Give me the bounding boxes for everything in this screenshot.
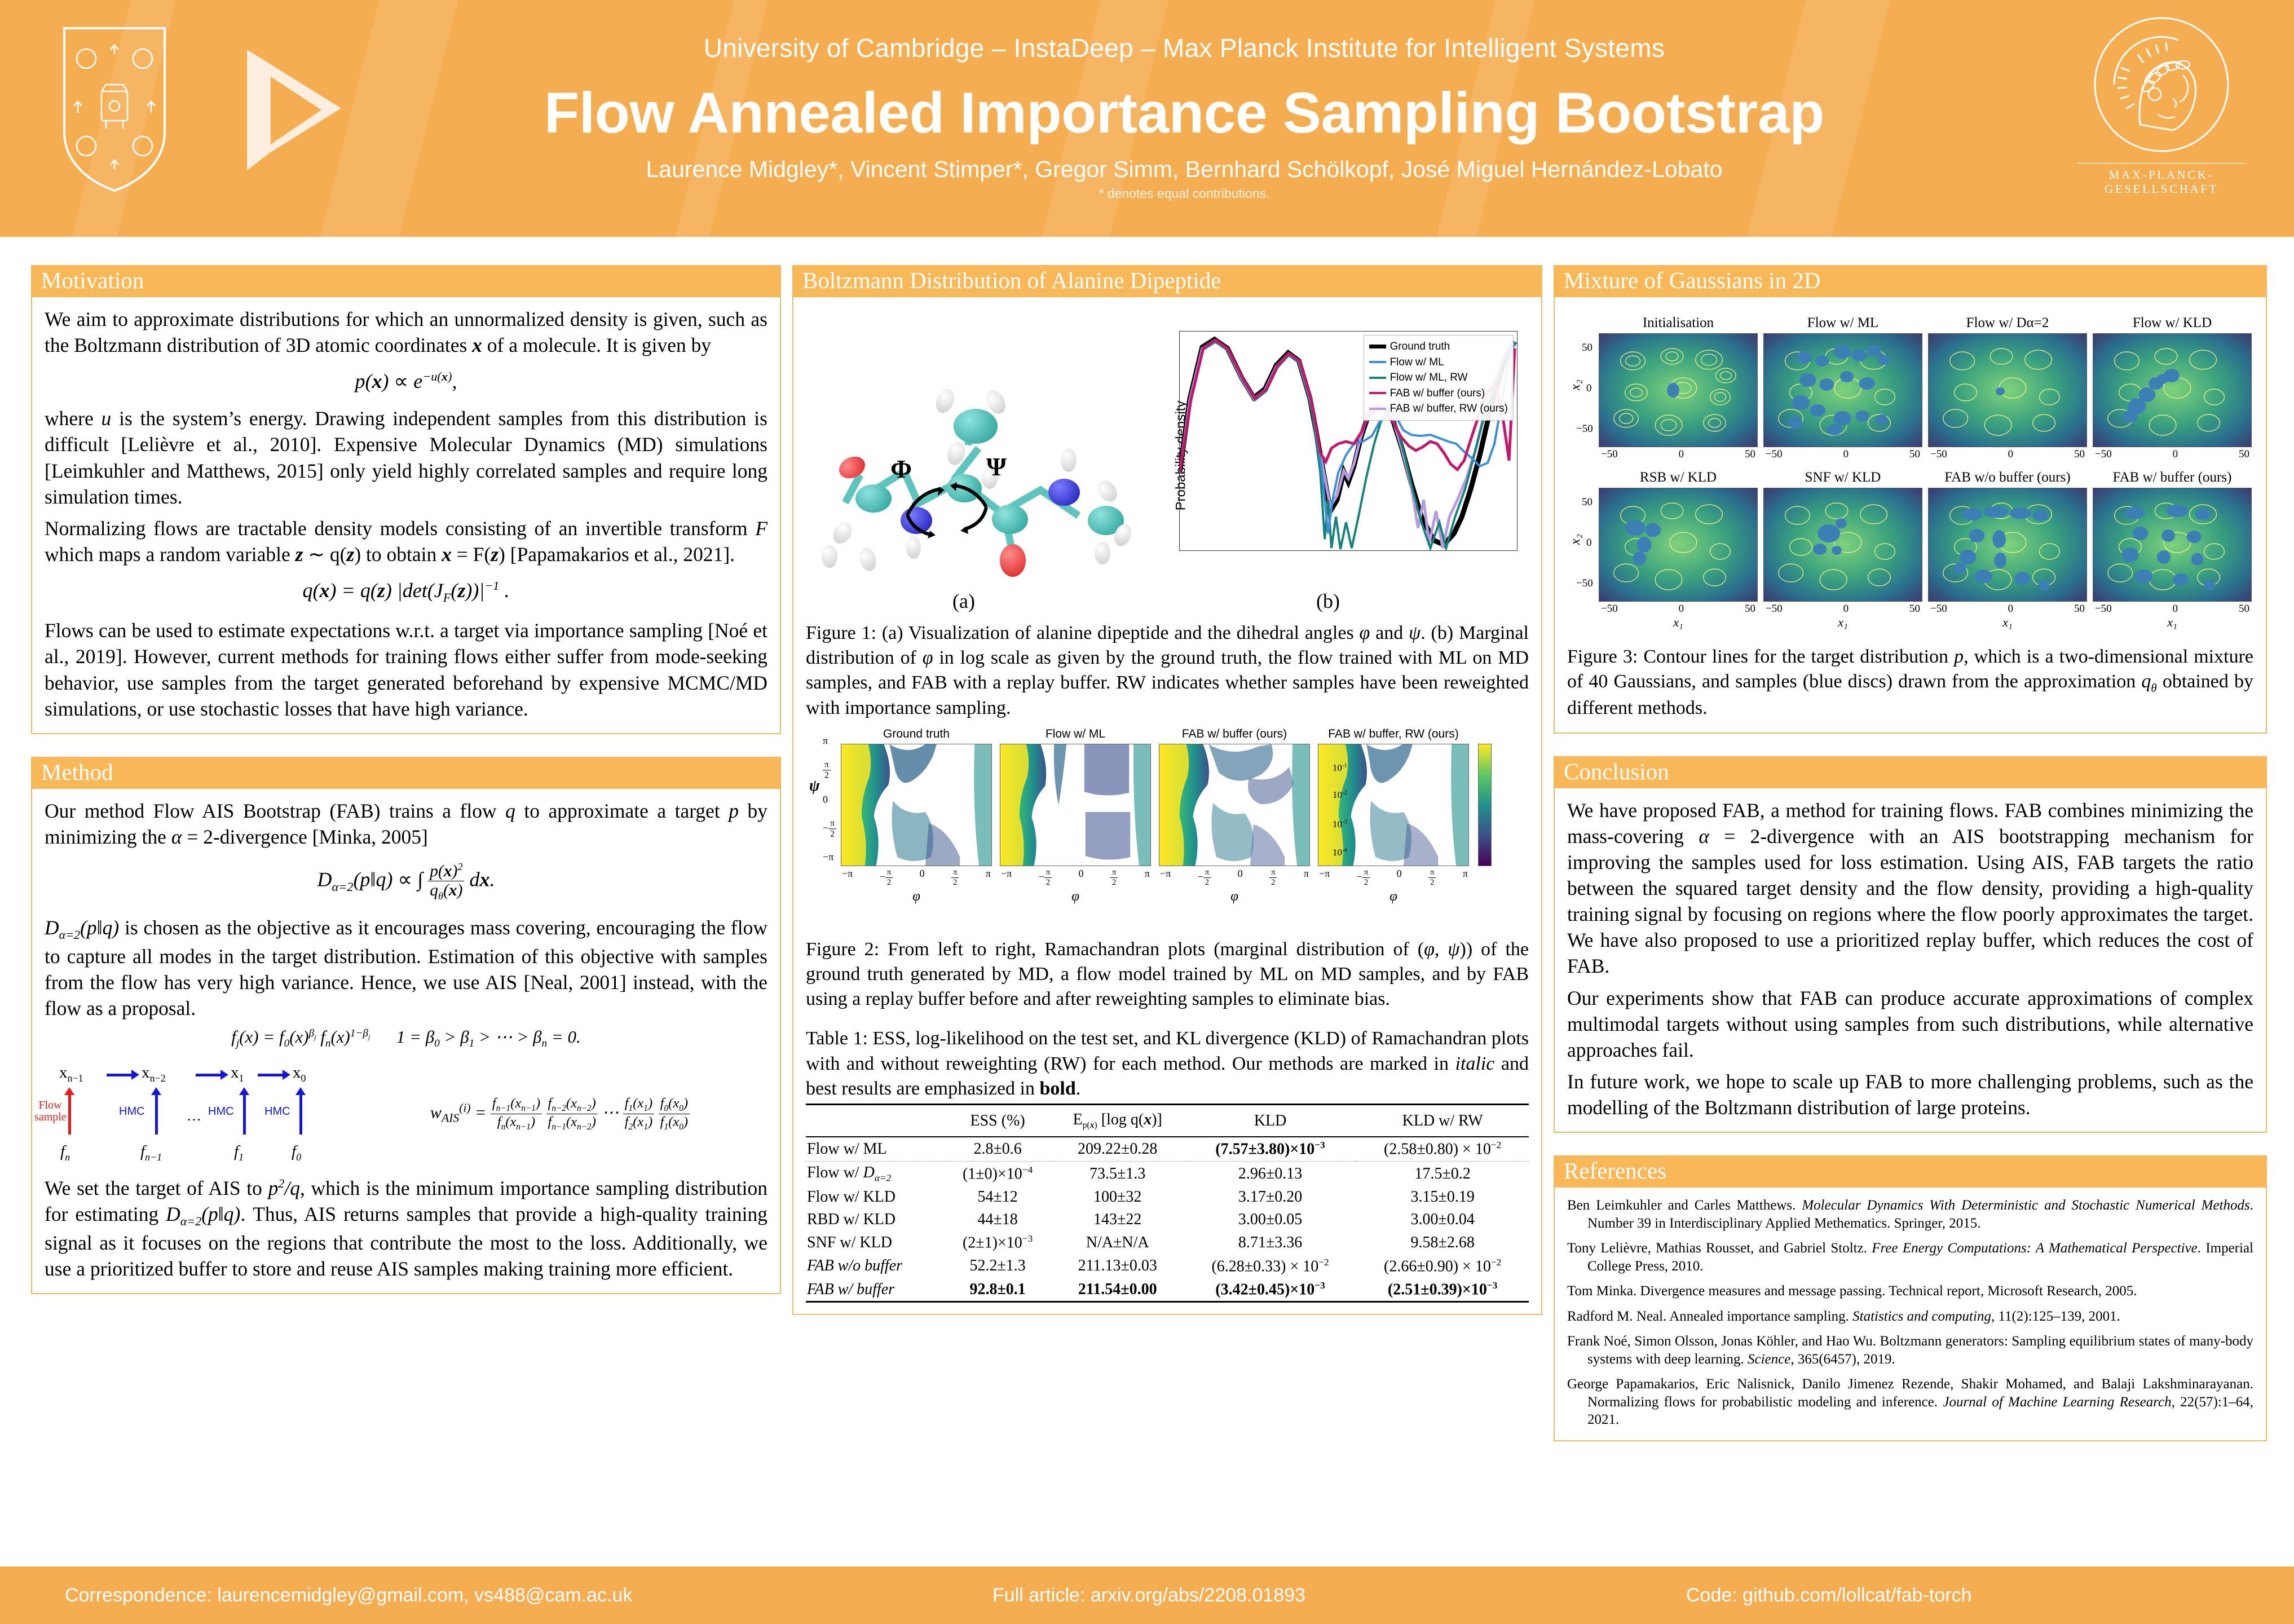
mog-panel-fab-wo-buffer: FAB w/o buffer (ours) (1928, 470, 2087, 630)
col-kld: KLD (1184, 1104, 1357, 1137)
col-loglik: Ep(x) [log q(x)] (1051, 1104, 1184, 1137)
hmc-label-3: HMC (264, 1105, 290, 1118)
reference-item: Radford M. Neal. Annealed importance sam… (1567, 1308, 2253, 1326)
col-kld-rw: KLD w/ RW (1356, 1104, 1529, 1137)
row-method: FAB w/o buffer (806, 1255, 945, 1278)
method-p3: We set the target of AIS to p2/q, which … (45, 1175, 767, 1282)
hydrogen-atom (857, 546, 879, 573)
mog-panel-row-2: RSB w/ KLD (1567, 470, 2253, 630)
rama-panel-fab-buffer-rw: FAB w/ buffer, RW (ours) (1318, 727, 1469, 888)
flow-sample-label: Flowsample (34, 1100, 66, 1123)
column-middle: Boltzmann Distribution of Alanine Dipept… (792, 265, 1542, 1338)
flow-sample-arrow (68, 1094, 71, 1135)
carbon-atom (954, 409, 998, 444)
reference-item: Tom Minka. Divergence measures and messa… (1567, 1282, 2253, 1300)
table-row: Flow w/ Dα=2 (1±0)×10−4 73.5±1.3 2.96±0.… (806, 1161, 1529, 1186)
legend-label-ground-truth: Ground truth (1390, 339, 1450, 355)
mog-ytick-5: −50 (1576, 577, 1593, 590)
hydrogen-atom (933, 386, 958, 416)
mog-panel-fab-buffer: FAB w/ buffer (ours) (2093, 470, 2252, 630)
rama-panel-flow-ml: Flow w/ ML (1000, 727, 1151, 888)
figure-3: x₂ 50 0 −50 Initialisation (1567, 306, 2253, 630)
hydrogen-atom (1094, 477, 1121, 505)
row-method: Flow w/ Dα=2 (806, 1161, 945, 1186)
figure-3-caption: Figure 3: Contour lines for the target d… (1567, 645, 2253, 721)
cbar-tick-0: 10-1 (1333, 762, 1521, 774)
mog-title-6: FAB w/o buffer (ours) (1928, 470, 2087, 486)
conclusion-block: Conclusion We have proposed FAB, a metho… (1554, 756, 2267, 1133)
motivation-equation-1: p(x) ∝ e−u(x), (45, 369, 767, 393)
method-block: Method Our method Flow AIS Bootstrap (FA… (31, 757, 781, 1294)
figure-1: Φ Ψ (a) Probability density (806, 306, 1529, 613)
motivation-p2: where u is the system’s energy. Drawing … (45, 405, 767, 510)
nitrogen-atom (1048, 479, 1080, 506)
table-row: FAB w/o buffer 52.2±1.3 211.13±0.03 (6.2… (806, 1255, 1529, 1278)
rama-ytick-1: π2 (823, 760, 831, 780)
method-title: Method (32, 757, 780, 789)
footer-article-link[interactable]: Full article: arxiv.org/abs/2208.01893 (992, 1585, 1305, 1607)
mog-block: Mixture of Gaussians in 2D x₂ 50 0 −50 I… (1554, 265, 2267, 734)
mog-title: Mixture of Gaussians in 2D (1555, 265, 2266, 297)
mog-panel-snf-kld: SNF w/ KLD (1763, 470, 1922, 630)
motivation-title: Motivation (32, 265, 780, 297)
mog-xlabel-6: x₁ (1928, 615, 2087, 630)
dihedral-rotation-arrows (885, 475, 1043, 549)
rama-ytick-2: 0 (823, 793, 828, 805)
col-ess: ESS (%) (945, 1104, 1051, 1137)
reference-item: Ben Leimkuhler and Carles Matthews. Mole… (1567, 1197, 2253, 1232)
legend-label-fab-buffer: FAB w/ buffer (ours) (1390, 386, 1485, 401)
conclusion-p3: In future work, we hope to scale up FAB … (1567, 1069, 2253, 1120)
mog-ytick-1: 0 (1586, 382, 1592, 395)
mog-title-5: SNF w/ KLD (1763, 470, 1922, 486)
mog-ylabel-row1: x₂ (1568, 379, 1583, 390)
rama-xlabel-3: φ (1318, 889, 1469, 904)
method-equation-1: Dα=2(p‖q) ∝ ∫ p(x)2qθ(x) dx. (45, 861, 767, 902)
motivation-p4: Flows can be used to estimate expectatio… (45, 617, 767, 722)
mog-panel-rsb-kld: RSB w/ KLD (1599, 470, 1758, 630)
rama-title-1: Flow w/ ML (1000, 727, 1151, 741)
method-p1: Our method Flow AIS Bootstrap (FAB) trai… (45, 798, 767, 850)
mog-ytick-0: 50 (1582, 342, 1592, 354)
rama-xlabel-2: φ (1159, 889, 1310, 904)
ellipsis-label: … (187, 1107, 201, 1124)
reference-item: Tony Lelièvre, Mathias Rousset, and Gabr… (1567, 1239, 2253, 1275)
figure-2: ψ π π2 0 −π2 −π Ground truth (806, 721, 1529, 913)
column-right: Mixture of Gaussians in 2D x₂ 50 0 −50 I… (1554, 265, 2267, 1464)
hmc-label-2: HMC (208, 1105, 234, 1118)
mog-ytick-4: 0 (1586, 537, 1592, 549)
ais-weight-equation: wAIS(i) = fn−1(xn−1)fn(xn−1) fn−2(xn−2)f… (352, 1096, 767, 1132)
mog-title-3: Flow w/ KLD (2093, 315, 2252, 331)
conclusion-p2: Our experiments show that FAB can produc… (1567, 985, 2253, 1063)
table-row: Flow w/ KLD 54±12 100±32 3.17±0.20 3.15±… (806, 1186, 1529, 1208)
method-p2: Dα=2(p‖q) is chosen as the objective as … (45, 915, 767, 1021)
phi-angle-label: Φ (890, 454, 912, 484)
mog-xlabel-7: x₁ (2093, 615, 2252, 630)
references-title: References (1555, 1155, 2266, 1188)
mog-title-7: FAB w/ buffer (ours) (2093, 470, 2252, 486)
rama-xlabel-0: φ (841, 889, 992, 904)
table-row: Flow w/ ML 2.8±0.6 209.22±0.28 (7.57±3.8… (806, 1137, 1529, 1161)
rama-xlabel-1: φ (1000, 889, 1151, 904)
column-left: Motivation We aim to approximate distrib… (31, 265, 781, 1317)
motivation-equation-2: q(x) = q(z) |det(JF(z))|−1 . (45, 579, 767, 605)
row-method: Flow w/ ML (806, 1137, 945, 1161)
table-row: RBD w/ KLD 44±18 143±22 3.00±0.05 3.00±0… (806, 1208, 1529, 1231)
poster-title: Flow Annealed Importance Sampling Bootst… (508, 80, 1861, 146)
rama-title-2: FAB w/ buffer (ours) (1159, 727, 1310, 741)
legend-label-flow-ml-rw: Flow w/ ML, RW (1390, 370, 1468, 386)
cambridge-shield-logo (61, 25, 168, 194)
author-list: Laurence Midgley*, Vincent Stimper*, Gre… (508, 156, 1861, 183)
legend-label-fab-buffer-rw: FAB w/ buffer, RW (ours) (1390, 401, 1508, 417)
hydrogen-atom (1061, 448, 1077, 472)
row-method: SNF w/ KLD (806, 1231, 945, 1254)
row-method: RBD w/ KLD (806, 1208, 945, 1231)
poster-root: University of Cambridge – InstaDeep – Ma… (0, 0, 2294, 1624)
hydrogen-atom (830, 519, 855, 547)
mpg-wordmark: MAX-PLANCK-GESELLSCHAFT (2077, 163, 2246, 196)
hydrogen-atom (1095, 542, 1110, 564)
affiliation-line: University of Cambridge – InstaDeep – Ma… (508, 33, 1861, 63)
row-method: FAB w/ buffer (806, 1278, 945, 1302)
mog-ylabel-row2: x₂ (1568, 534, 1583, 545)
mog-xlabel-5: x₁ (1763, 615, 1922, 630)
row-method: Flow w/ KLD (806, 1186, 945, 1208)
instadeep-logo (237, 45, 350, 175)
rama-panel-ground-truth: Ground truth (841, 727, 992, 888)
references-block: References Ben Leimkuhler and Carles Mat… (1554, 1155, 2267, 1441)
header-text-group: University of Cambridge – InstaDeep – Ma… (508, 23, 1861, 201)
mog-panel-flow-ml: Flow w/ ML (1763, 315, 1922, 461)
boltzmann-title: Boltzmann Distribution of Alanine Dipept… (793, 265, 1541, 297)
figure-1-caption: Figure 1: (a) Visualization of alanine d… (806, 621, 1529, 721)
footer-code-link[interactable]: Code: github.com/lollcat/fab-torch (1686, 1585, 1971, 1607)
legend-label-flow-ml: Flow w/ ML (1390, 355, 1444, 370)
cbar-tick-3: 10-4 (1333, 847, 1521, 858)
density-legend: Ground truth Flow w/ ML Flow w/ ML, RW F… (1364, 335, 1514, 421)
psi-angle-label: Ψ (986, 452, 1007, 482)
reference-item: Frank Noé, Simon Olsson, Jonas Köhler, a… (1567, 1332, 2253, 1368)
mog-title-2: Flow w/ Dα=2 (1928, 315, 2087, 331)
hmc-label-1: HMC (119, 1105, 145, 1118)
table-row: FAB w/ buffer 92.8±0.1 211.54±0.00 (3.42… (806, 1278, 1529, 1302)
rama-ylabel: ψ (809, 777, 820, 795)
ais-chain-diagram: xn−1 xn−2 x1 x0 Flowsample HMC … H (45, 1060, 338, 1167)
mog-panel-initialisation: Initialisation (1599, 315, 1758, 461)
conclusion-p1: We have proposed FAB, a method for train… (1567, 797, 2253, 979)
table-row: SNF w/ KLD (2±1)×10−3 N/A±N/A 8.71±3.36 … (806, 1231, 1529, 1254)
method-equation-2: fj(x) = f0(x)βj fn(x)1−βj 1 = β0 > β1 > … (45, 1027, 767, 1050)
alanine-dipeptide-molecule: Φ Ψ (806, 323, 1122, 588)
rama-title-0: Ground truth (841, 727, 992, 741)
motivation-block: Motivation We aim to approximate distrib… (31, 265, 781, 734)
boltzmann-block: Boltzmann Distribution of Alanine Dipept… (792, 265, 1542, 1315)
motivation-p1: We aim to approximate distributions for … (45, 306, 767, 358)
max-planck-logo: MAX-PLANCK-GESELLSCHAFT (2068, 14, 2255, 200)
mog-ytick-3: 50 (1582, 496, 1592, 509)
ramachandran-panel-row: Ground truth (806, 727, 1529, 888)
table-header-row: ESS (%) Ep(x) [log q(x)] KLD KLD w/ RW (806, 1104, 1529, 1137)
rama-title-3: FAB w/ buffer, RW (ours) (1318, 727, 1469, 741)
rama-ytick-3: −π2 (823, 818, 836, 839)
hydrogen-atom (822, 545, 837, 568)
oxygen-atom (1000, 544, 1026, 577)
poster-footer: Correspondence: laurencemidgley@gmail.co… (0, 1566, 2294, 1624)
density-axes: Ground truth Flow w/ ML Flow w/ ML, RW F… (1179, 331, 1517, 551)
conclusion-title: Conclusion (1555, 756, 2266, 788)
poster-header: University of Cambridge – InstaDeep – Ma… (0, 0, 2294, 237)
mog-ytick-2: −50 (1576, 423, 1593, 435)
mog-panel-flow-dalpha2: Flow w/ Dα=2 (1928, 315, 2087, 461)
motivation-p3: Normalizing flows are tractable density … (45, 515, 767, 567)
reference-item: George Papamakarios, Eric Nalisnick, Dan… (1567, 1375, 2253, 1429)
mog-title-4: RSB w/ KLD (1599, 470, 1758, 486)
rama-panel-fab-buffer: FAB w/ buffer (ours) (1159, 727, 1310, 888)
mog-panel-row-1: Initialisation (1567, 315, 2253, 461)
results-table: ESS (%) Ep(x) [log q(x)] KLD KLD w/ RW F… (806, 1104, 1529, 1303)
subfigure-a-label: (a) (806, 589, 1122, 613)
rama-ytick-0: π (823, 735, 828, 747)
mog-panel-flow-kld: Flow w/ KLD (2093, 315, 2252, 461)
equal-contrib-note: * denotes equal contributions. (508, 186, 1861, 201)
figure-2-caption: Figure 2: From left to right, Ramachandr… (806, 937, 1529, 1012)
table-1-caption: Table 1: ESS, log-likelihood on the test… (806, 1026, 1529, 1101)
oxygen-atom (836, 453, 869, 483)
subfigure-b-label: (b) (1127, 589, 1529, 613)
mog-xlabel-4: x₁ (1599, 615, 1758, 630)
marginal-density-chart: Probability density (1127, 323, 1522, 588)
cbar-tick-1: 10-2 (1333, 789, 1521, 801)
rama-ytick-4: −π (823, 851, 833, 863)
footer-correspondence: Correspondence: laurencemidgley@gmail.co… (65, 1585, 632, 1607)
mog-title-0: Initialisation (1599, 315, 1758, 331)
cbar-tick-2: 10-3 (1333, 819, 1521, 830)
ais-diagram: xn−1 xn−2 x1 x0 Flowsample HMC … H (45, 1060, 767, 1167)
mog-title-1: Flow w/ ML (1763, 315, 1922, 331)
col-method (806, 1104, 945, 1137)
